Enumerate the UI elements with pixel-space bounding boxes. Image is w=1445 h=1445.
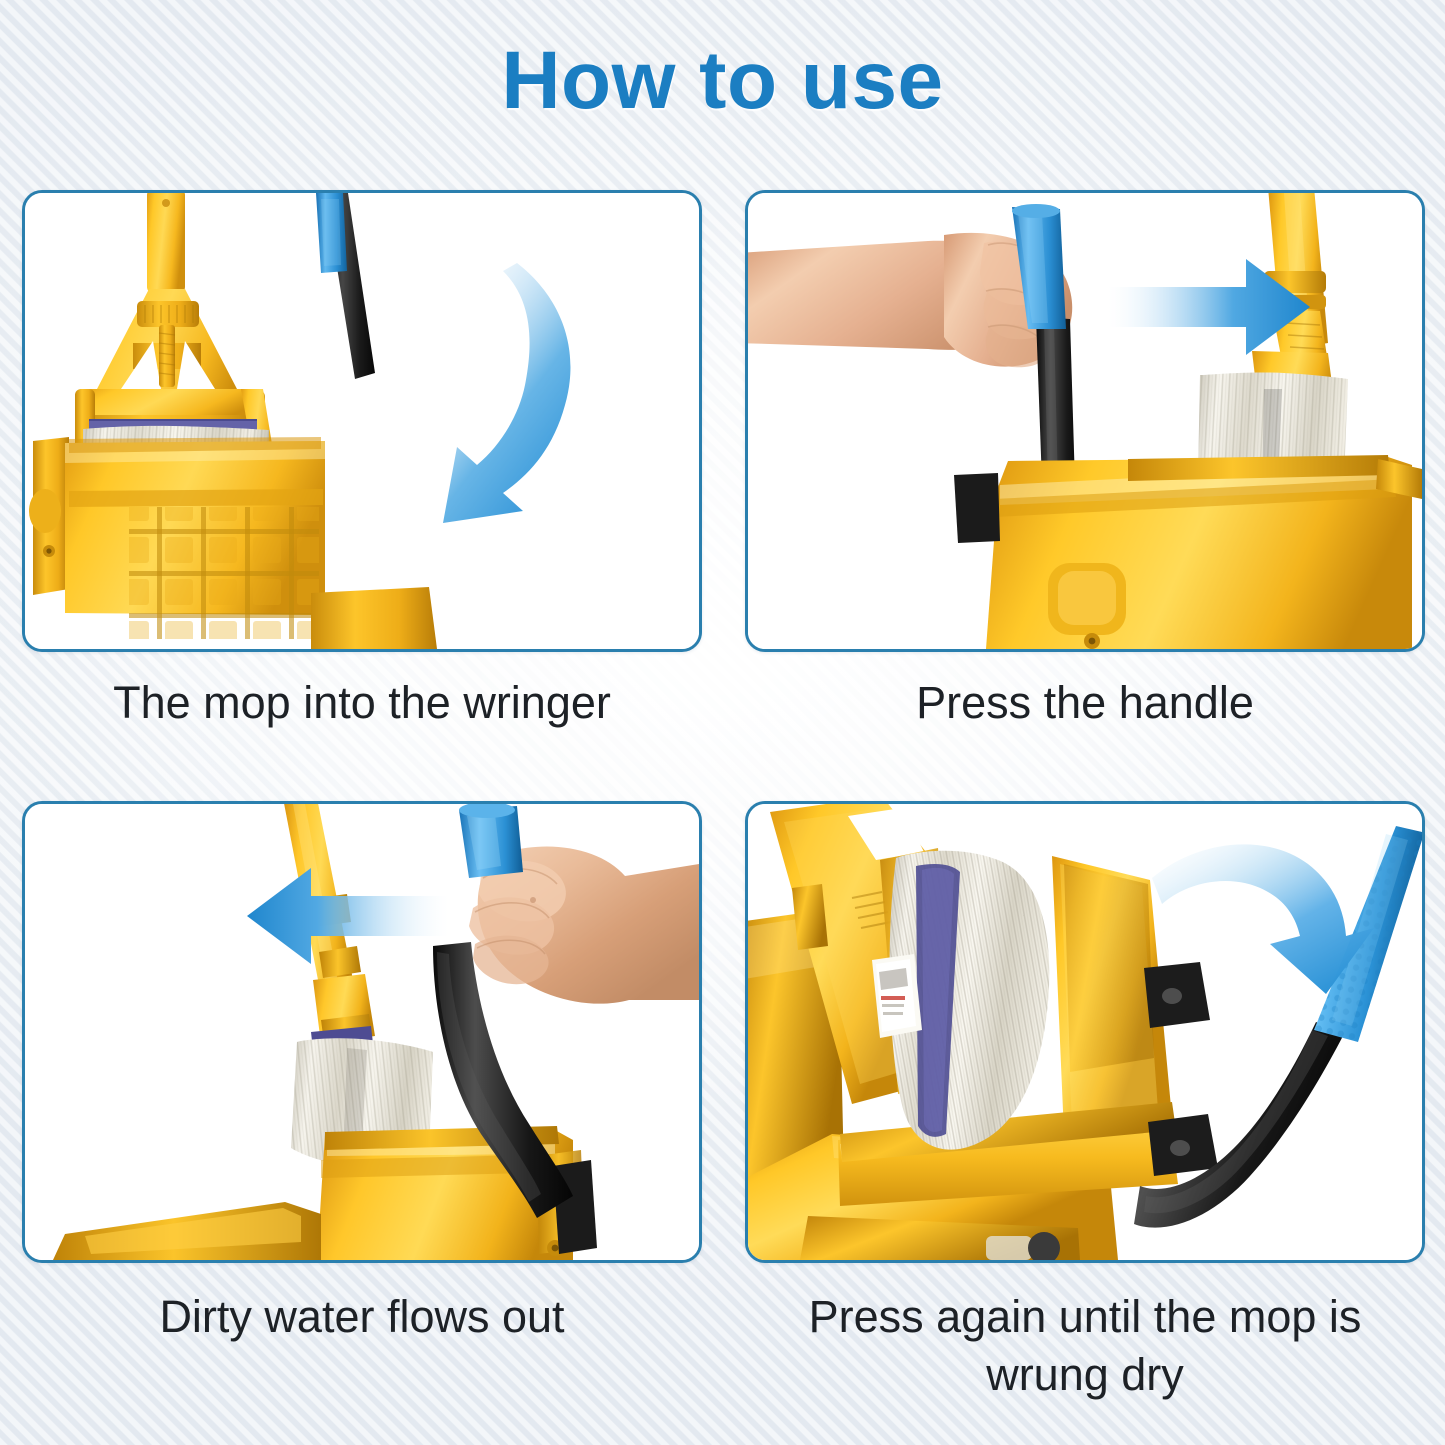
illustration-step-4 xyxy=(748,804,1422,1260)
scene-water-draining-from-mop xyxy=(25,804,699,1260)
step-panel-1 xyxy=(22,190,702,652)
bucket-knob xyxy=(1048,563,1126,635)
step-panel-3 xyxy=(22,801,702,1263)
step-4-caption: Press again until the mop is wrung dry xyxy=(745,1288,1425,1403)
step-4-caption-line-2: wrung dry xyxy=(986,1349,1184,1400)
how-to-use-infographic: How to use xyxy=(0,0,1445,1445)
step-2-caption: Press the handle xyxy=(745,674,1425,732)
scene-mop-lowered-into-wringer xyxy=(25,193,699,649)
illustration-step-2 xyxy=(748,193,1422,649)
yellow-wringer-shaft xyxy=(147,193,185,293)
step-panel-2 xyxy=(745,190,1425,652)
step-4-caption-line-1: Press again until the mop is xyxy=(809,1291,1362,1342)
scene-hand-pressing-handle xyxy=(748,193,1422,649)
step-panel-4 xyxy=(745,801,1425,1263)
scene-mop-wrung-dry-closeup xyxy=(748,804,1422,1260)
step-1-caption: The mop into the wringer xyxy=(22,674,702,732)
step-3-caption: Dirty water flows out xyxy=(22,1288,702,1346)
blue-handle-cap xyxy=(459,804,523,878)
page-title: How to use xyxy=(0,34,1445,128)
yellow-bucket xyxy=(954,455,1422,649)
illustration-step-3 xyxy=(25,804,699,1260)
blue-mop-handle-grip xyxy=(316,193,347,273)
mop-label-tag xyxy=(872,954,922,1038)
illustration-step-1 xyxy=(25,193,699,649)
bucket-vent-grid xyxy=(129,507,319,639)
